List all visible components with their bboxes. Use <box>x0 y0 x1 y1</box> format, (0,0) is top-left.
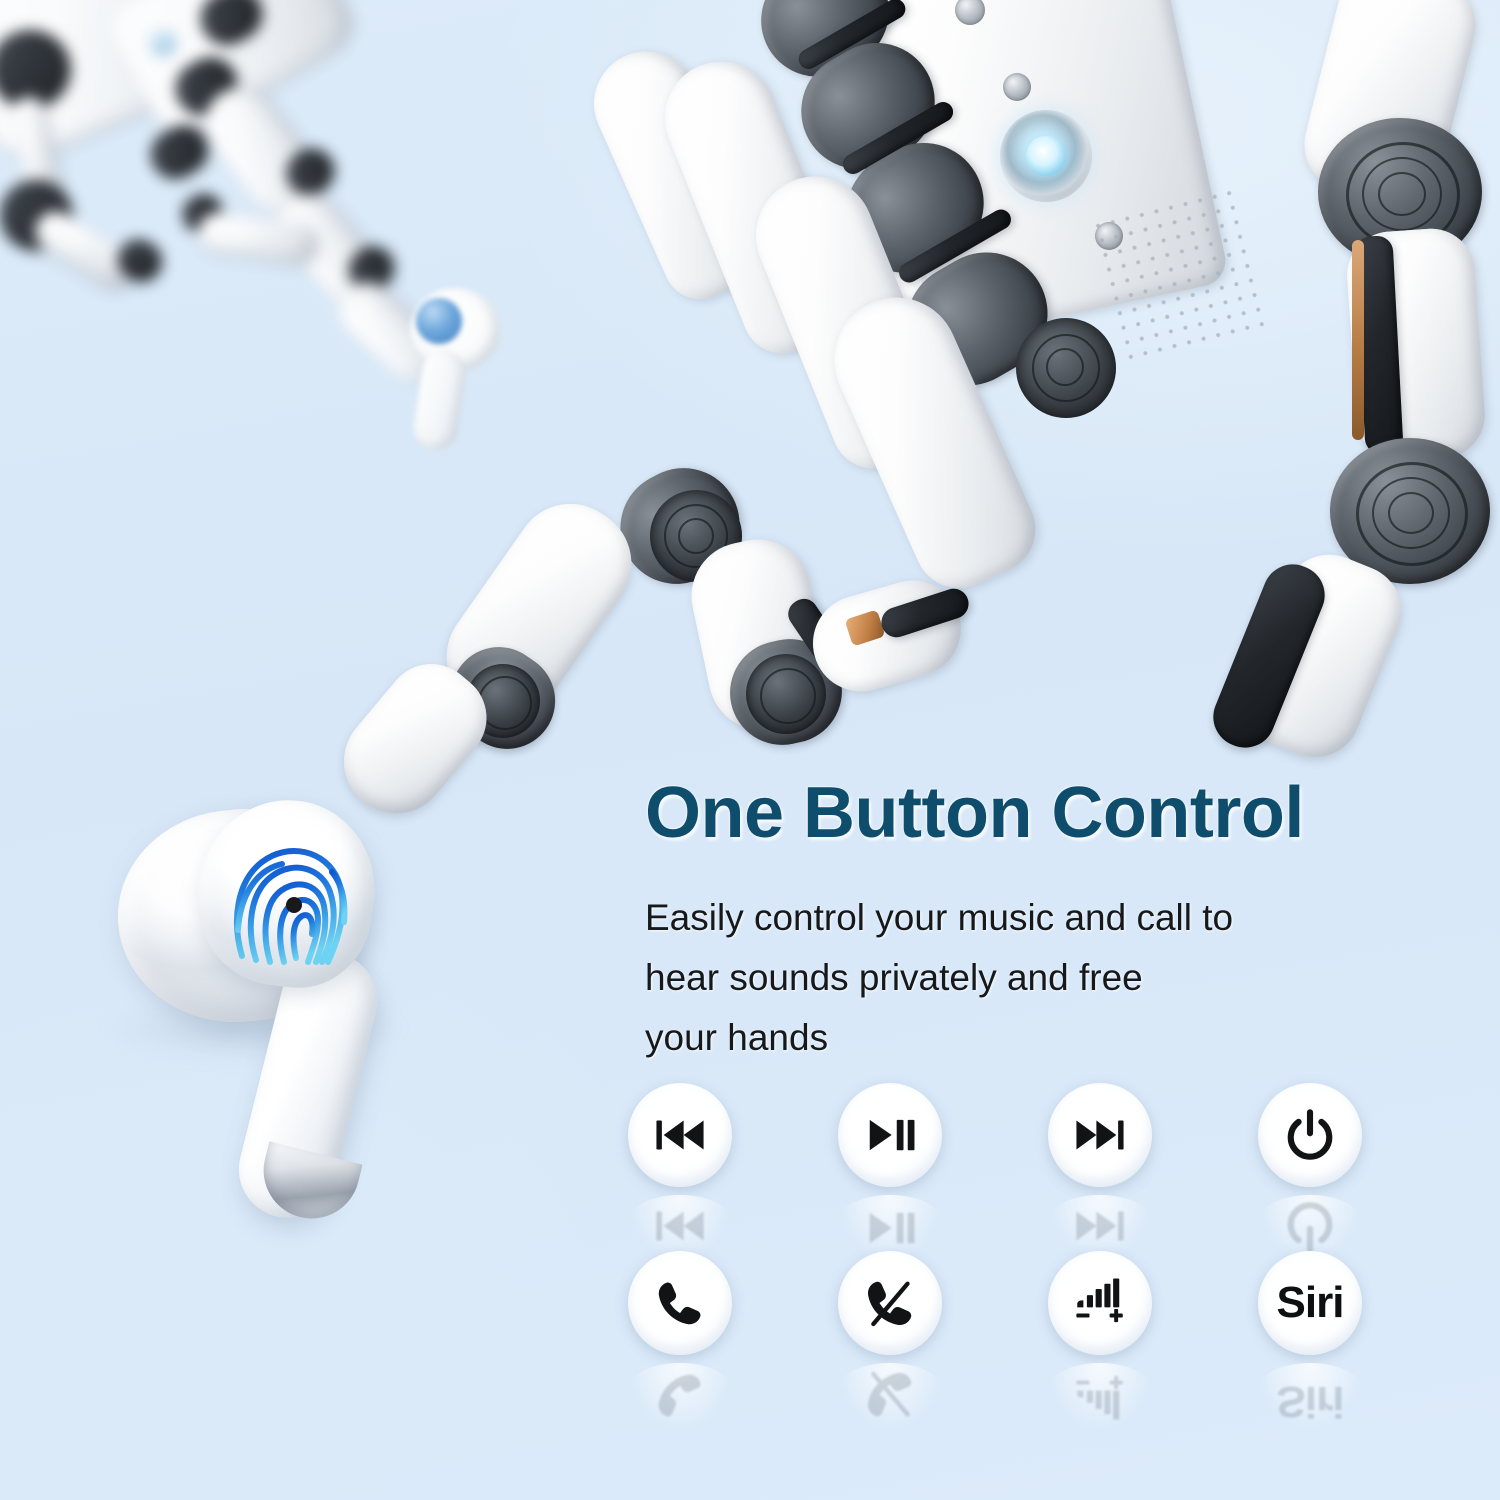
answer-call-reflection <box>628 1363 732 1429</box>
description-text: Easily control your music and call to he… <box>645 888 1365 1068</box>
thumb-copper-strip <box>1352 240 1364 440</box>
fingerprint-icon <box>228 836 360 976</box>
control-cell-end <box>838 1251 1048 1423</box>
screw-icon-2 <box>1003 73 1031 101</box>
description-line-3: your hands <box>645 1008 1365 1068</box>
end-call-reflection <box>838 1363 942 1429</box>
previous-track-icon[interactable] <box>628 1083 732 1187</box>
earbud-small-stem <box>411 347 468 452</box>
control-cell-power <box>1258 1083 1468 1255</box>
siri-reflection: Siri <box>1258 1363 1362 1429</box>
control-cell-volume <box>1048 1251 1258 1423</box>
siri-icon[interactable]: Siri <box>1258 1251 1362 1355</box>
end-call-icon[interactable] <box>838 1251 942 1355</box>
play-pause-icon[interactable] <box>838 1083 942 1187</box>
volume-control-icon[interactable] <box>1048 1251 1152 1355</box>
earbud-small <box>378 288 500 450</box>
earbud-small-touch-icon <box>416 298 462 344</box>
gear-disc-1-ring-inner <box>1046 348 1084 386</box>
bg-sensor-icon <box>150 30 176 56</box>
description-line-1: Easily control your music and call to <box>645 888 1365 948</box>
sensor-led-core <box>1026 136 1066 176</box>
control-icons-row-2: Siri Siri <box>628 1251 1468 1423</box>
control-cell-next <box>1048 1083 1258 1255</box>
control-icons: Siri Siri <box>628 1083 1468 1423</box>
control-cell-siri: Siri Siri <box>1258 1251 1468 1423</box>
control-cell-previous <box>628 1083 838 1255</box>
earbud-stem-tip <box>253 1141 362 1228</box>
power-icon[interactable] <box>1258 1083 1362 1187</box>
answer-call-icon[interactable] <box>628 1251 732 1355</box>
siri-label: Siri <box>1277 1281 1344 1325</box>
volume-control-reflection <box>1048 1363 1152 1429</box>
control-cell-playpause <box>838 1083 1048 1255</box>
wireless-earbud <box>110 800 490 1240</box>
product-marketing-image: One Button Control Easily control your m… <box>0 0 1500 1500</box>
description-line-2: hear sounds privately and free <box>645 948 1365 1008</box>
opposed-gear-ring <box>760 668 816 724</box>
control-cell-answer <box>628 1251 838 1423</box>
control-icons-row-1 <box>628 1083 1468 1255</box>
index-gear-ring-inner <box>678 518 714 554</box>
siri-label-reflection: Siri <box>1277 1379 1344 1423</box>
thumb-disc-1-ring-inner <box>1378 172 1426 216</box>
next-track-icon[interactable] <box>1048 1083 1152 1187</box>
page-title: One Button Control <box>645 772 1304 854</box>
thumb-disc-2-ring-inner <box>1388 492 1434 534</box>
